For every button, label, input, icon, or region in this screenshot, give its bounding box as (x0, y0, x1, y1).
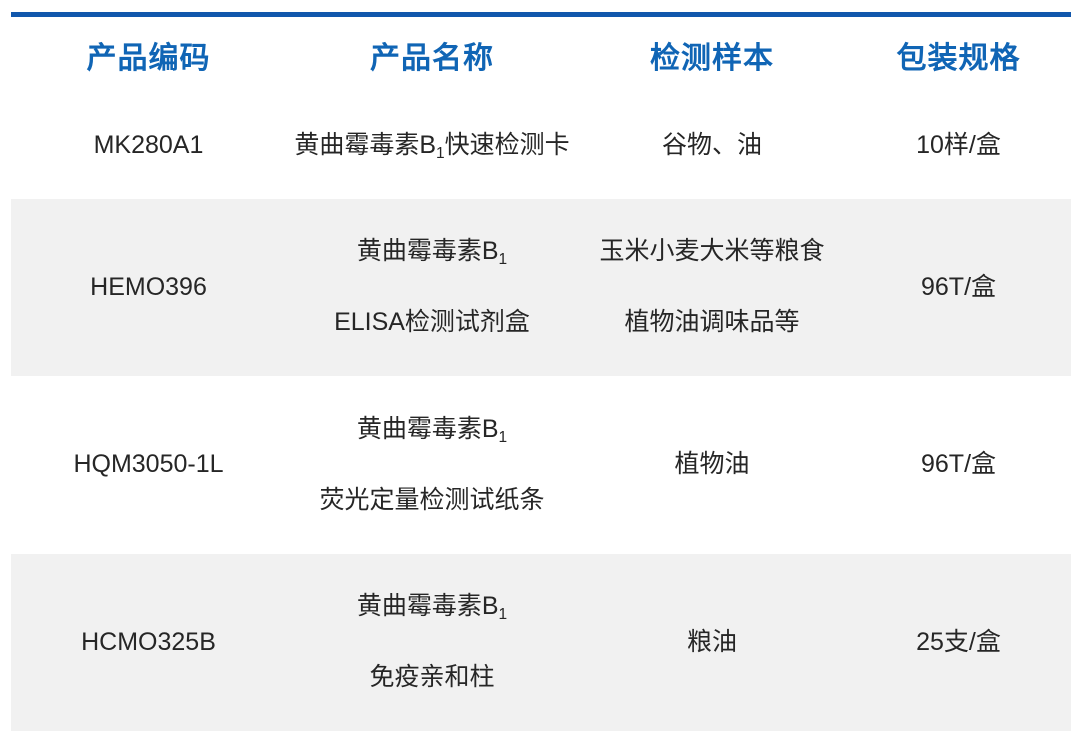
cell-product-name: 黄曲霉毒素B1 ELISA检测试剂盒 (286, 199, 578, 377)
product-name-text: 黄曲霉毒素B (294, 131, 436, 159)
column-header-sample: 检测样本 (578, 17, 846, 92)
product-name-subscript: 1 (499, 606, 508, 623)
cell-product-name: 黄曲霉毒素B1快速检测卡 (286, 92, 578, 199)
sample-line-1: 玉米小麦大米等粮食 (578, 234, 846, 270)
product-name-subscript: 1 (436, 145, 445, 162)
cell-product-code: HEMO396 (11, 199, 286, 377)
product-name-line-1: 黄曲霉毒素B1 (286, 412, 578, 448)
sample-line-1: 粮油 (578, 625, 846, 661)
product-name-suffix: 快速检测卡 (445, 131, 570, 159)
product-name-text: 黄曲霉毒素B (357, 415, 499, 443)
cell-product-name: 黄曲霉毒素B1 免疫亲和柱 (286, 554, 578, 731)
sample-line-2: 植物油调味品等 (578, 305, 846, 341)
product-name-text: 黄曲霉毒素B (357, 237, 499, 265)
product-name-subscript: 1 (499, 251, 508, 268)
sample-line-1: 谷物、油 (578, 128, 846, 164)
table-row: HEMO396 黄曲霉毒素B1 ELISA检测试剂盒 玉米小麦大米等粮食 植物油… (11, 199, 1071, 377)
product-name-line-2: 荧光定量检测试纸条 (286, 483, 578, 519)
cell-product-code: MK280A1 (11, 92, 286, 199)
cell-sample: 粮油 (578, 554, 846, 731)
column-header-name: 产品名称 (286, 17, 578, 92)
table-row: HCMO325B 黄曲霉毒素B1 免疫亲和柱 粮油 25支/盒 (11, 554, 1071, 731)
product-name-line-1: 黄曲霉毒素B1 (286, 589, 578, 625)
header-row: 产品编码 产品名称 检测样本 包装规格 (11, 17, 1071, 92)
table-body: MK280A1 黄曲霉毒素B1快速检测卡 谷物、油 10样/盒 HEMO396 … (11, 92, 1071, 731)
cell-product-code: HCMO325B (11, 554, 286, 731)
cell-sample: 谷物、油 (578, 92, 846, 199)
cell-package: 10样/盒 (846, 92, 1071, 199)
cell-sample: 玉米小麦大米等粮食 植物油调味品等 (578, 199, 846, 377)
cell-package: 96T/盒 (846, 199, 1071, 377)
product-table-container: 产品编码 产品名称 检测样本 包装规格 MK280A1 黄曲霉毒素B1快速检测卡… (0, 0, 1080, 619)
product-name-text: 黄曲霉毒素B (357, 592, 499, 620)
cell-package: 25支/盒 (846, 554, 1071, 731)
table-row: HQM3050-1L 黄曲霉毒素B1 荧光定量检测试纸条 植物油 96T/盒 (11, 376, 1071, 554)
cell-sample: 植物油 (578, 376, 846, 554)
sample-line-1: 植物油 (578, 447, 846, 483)
product-name-subscript: 1 (499, 429, 508, 446)
cell-product-name: 黄曲霉毒素B1 荧光定量检测试纸条 (286, 376, 578, 554)
product-table: 产品编码 产品名称 检测样本 包装规格 MK280A1 黄曲霉毒素B1快速检测卡… (11, 17, 1071, 731)
product-name-line-1: 黄曲霉毒素B1 (286, 234, 578, 270)
cell-package: 96T/盒 (846, 376, 1071, 554)
column-header-package: 包装规格 (846, 17, 1071, 92)
product-name-line-1: 黄曲霉毒素B1快速检测卡 (286, 128, 578, 164)
table-header: 产品编码 产品名称 检测样本 包装规格 (11, 17, 1071, 92)
cell-product-code: HQM3050-1L (11, 376, 286, 554)
column-header-code: 产品编码 (11, 17, 286, 92)
product-name-line-2: ELISA检测试剂盒 (286, 305, 578, 341)
product-name-line-2: 免疫亲和柱 (286, 660, 578, 696)
table-row: MK280A1 黄曲霉毒素B1快速检测卡 谷物、油 10样/盒 (11, 92, 1071, 199)
